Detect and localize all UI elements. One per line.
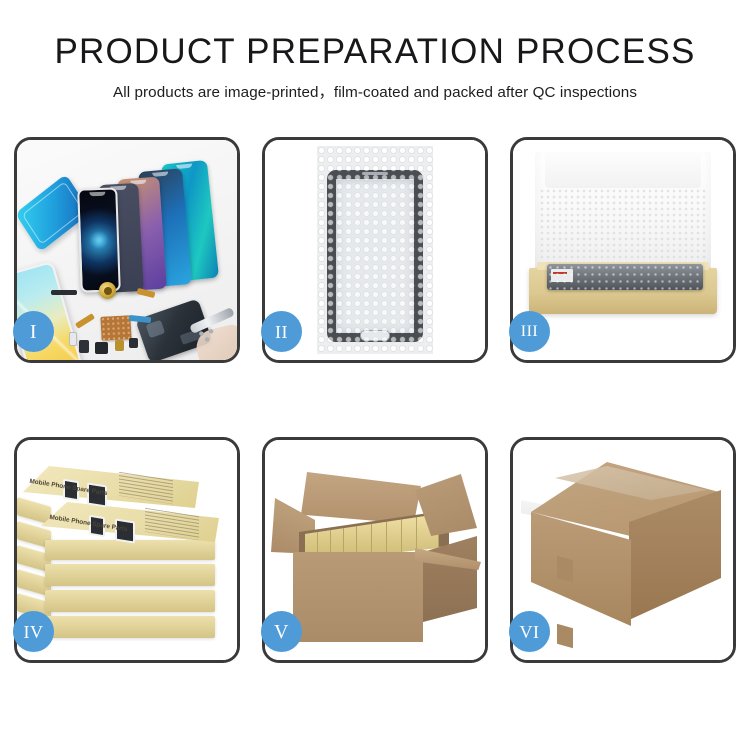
small-part — [79, 340, 89, 353]
page-subtitle: All products are image-printed，film-coat… — [0, 80, 750, 102]
carton-seal-tab — [557, 624, 573, 649]
step-badge-5: V — [261, 611, 302, 652]
product-preparation-infographic: PRODUCT PREPARATION PROCESS All products… — [0, 0, 750, 750]
step-badge-4: IV — [13, 611, 54, 652]
step-badge-3: III — [509, 311, 550, 352]
stacked-box — [45, 616, 215, 638]
phone-notch — [89, 192, 105, 196]
stacked-box — [45, 540, 215, 560]
process-step-4: Mobile Phone Spare Parts Mobile Phone Sp… — [14, 437, 240, 663]
small-part — [95, 342, 108, 354]
process-step-3: III — [510, 137, 736, 363]
step-badge-2: II — [261, 311, 302, 352]
bubble-wrap-sheet — [317, 146, 433, 354]
phone-black-front-glass — [77, 187, 121, 292]
flex-cable-part — [51, 290, 77, 295]
stacked-box — [45, 590, 215, 612]
process-step-6: VI — [510, 437, 736, 663]
small-part — [115, 340, 124, 351]
carton-front-face — [293, 552, 423, 642]
screw-tray-component — [100, 315, 131, 341]
loose-screws — [197, 328, 219, 342]
page-title: PRODUCT PREPARATION PROCESS — [0, 34, 750, 71]
step-badge-1: I — [13, 311, 54, 352]
speaker-component — [99, 282, 116, 299]
process-step-grid: I II — [14, 137, 736, 663]
carton-seal-tab — [557, 556, 573, 583]
stacked-box — [45, 564, 215, 586]
phone-notch — [176, 163, 192, 168]
kraft-box-tray — [529, 268, 717, 314]
small-part — [129, 338, 138, 348]
process-step-1: I — [14, 137, 240, 363]
bubble-wrap-overlay — [317, 146, 433, 354]
wrapped-screen-in-box — [547, 264, 703, 290]
small-part — [69, 332, 77, 346]
header: PRODUCT PREPARATION PROCESS All products… — [0, 0, 750, 102]
phone-notch — [152, 172, 168, 177]
process-step-2: II — [262, 137, 488, 363]
step-badge-6: VI — [509, 611, 550, 652]
screen-label-sticker — [551, 269, 573, 282]
process-step-5: V — [262, 437, 488, 663]
